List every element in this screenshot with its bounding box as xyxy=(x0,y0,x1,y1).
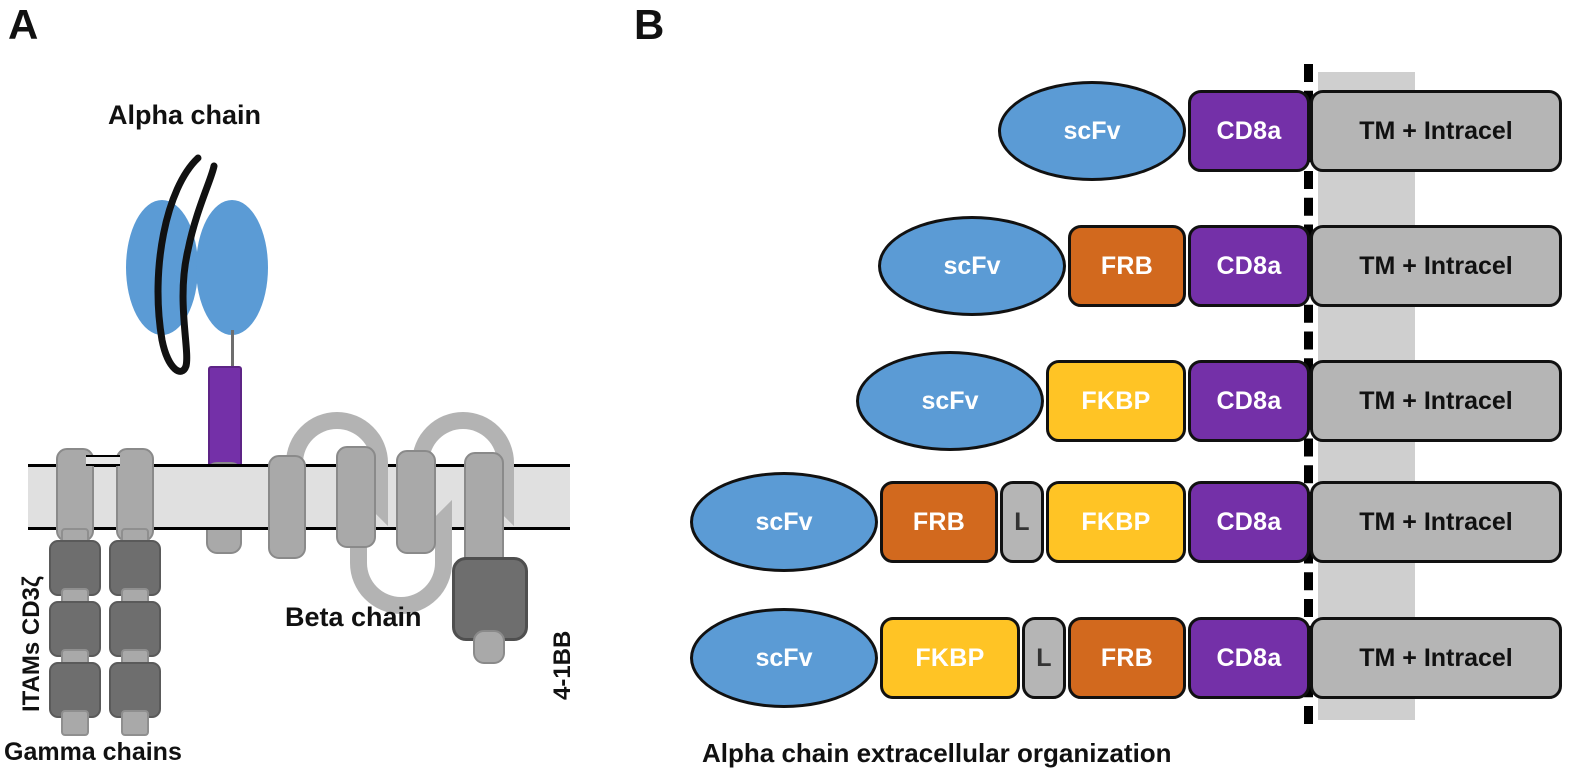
scfv-label: scFv xyxy=(922,387,979,416)
fkbp-domain: FKBP xyxy=(1046,360,1186,442)
fkbp-domain: FKBP xyxy=(1046,481,1186,563)
construct-row: scFvCD8aTM + Intracel xyxy=(0,90,1575,172)
scfv-domain: scFv xyxy=(878,216,1066,316)
scfv-domain: scFv xyxy=(998,81,1186,181)
frb-label: FRB xyxy=(1101,252,1153,281)
gamma-chains-disulfide-link xyxy=(86,455,120,466)
scfv-label: scFv xyxy=(756,508,813,537)
linker-label: L xyxy=(1014,508,1030,537)
tm-intracellular-label: TM + Intracel xyxy=(1359,644,1513,673)
scfv-domain: scFv xyxy=(690,608,878,708)
gamma-chain-2-link-bottom xyxy=(121,710,149,736)
fkbp-label: FKBP xyxy=(1081,508,1150,537)
scfv-label: scFv xyxy=(944,252,1001,281)
construct-row: scFvFKBPLFRBCD8aTM + Intracel xyxy=(0,617,1575,699)
cd8a-domain: CD8a xyxy=(1188,360,1310,442)
fkbp-label: FKBP xyxy=(1081,387,1150,416)
fkbp-domain: FKBP xyxy=(880,617,1020,699)
tm-intracellular-label: TM + Intracel xyxy=(1359,252,1513,281)
cd8a-domain: CD8a xyxy=(1188,90,1310,172)
cd8a-label: CD8a xyxy=(1216,644,1281,673)
tm-intracellular-domain: TM + Intracel xyxy=(1310,225,1562,307)
tm-intracellular-label: TM + Intracel xyxy=(1359,508,1513,537)
frb-domain: FRB xyxy=(880,481,998,563)
cd8a-label: CD8a xyxy=(1216,252,1281,281)
tm-intracellular-domain: TM + Intracel xyxy=(1310,617,1562,699)
panel-b-label: B xyxy=(634,4,664,46)
panel-b-caption: Alpha chain extracellular organization xyxy=(702,738,1172,769)
panel-a-label: A xyxy=(8,4,38,46)
cd8a-domain: CD8a xyxy=(1188,481,1310,563)
cd8a-label: CD8a xyxy=(1216,508,1281,537)
scfv-label: scFv xyxy=(756,644,813,673)
scfv-domain: scFv xyxy=(856,351,1044,451)
cd8a-domain: CD8a xyxy=(1188,617,1310,699)
tm-intracellular-label: TM + Intracel xyxy=(1359,387,1513,416)
frb-domain: FRB xyxy=(1068,617,1186,699)
cd8a-label: CD8a xyxy=(1216,387,1281,416)
gamma-chains-label: Gamma chains xyxy=(4,738,182,767)
cd8a-label: CD8a xyxy=(1216,117,1281,146)
tm-intracellular-label: TM + Intracel xyxy=(1359,117,1513,146)
tm-intracellular-domain: TM + Intracel xyxy=(1310,481,1562,563)
frb-label: FRB xyxy=(913,508,965,537)
figure-canvas: A Alpha chain Beta chain ITAMs CD3ζ 4-1B xyxy=(0,0,1575,783)
linker-domain: L xyxy=(1022,617,1066,699)
cd8a-domain: CD8a xyxy=(1188,225,1310,307)
construct-row: scFvFKBPCD8aTM + Intracel xyxy=(0,360,1575,442)
gamma-chain-1-link-bottom xyxy=(61,710,89,736)
tm-intracellular-domain: TM + Intracel xyxy=(1310,90,1562,172)
fkbp-label: FKBP xyxy=(915,644,984,673)
linker-domain: L xyxy=(1000,481,1044,563)
linker-label: L xyxy=(1036,644,1052,673)
tm-intracellular-domain: TM + Intracel xyxy=(1310,360,1562,442)
construct-row: scFvFRBCD8aTM + Intracel xyxy=(0,225,1575,307)
construct-row: scFvFRBLFKBPCD8aTM + Intracel xyxy=(0,481,1575,563)
scfv-label: scFv xyxy=(1064,117,1121,146)
frb-domain: FRB xyxy=(1068,225,1186,307)
frb-label: FRB xyxy=(1101,644,1153,673)
scfv-domain: scFv xyxy=(690,472,878,572)
